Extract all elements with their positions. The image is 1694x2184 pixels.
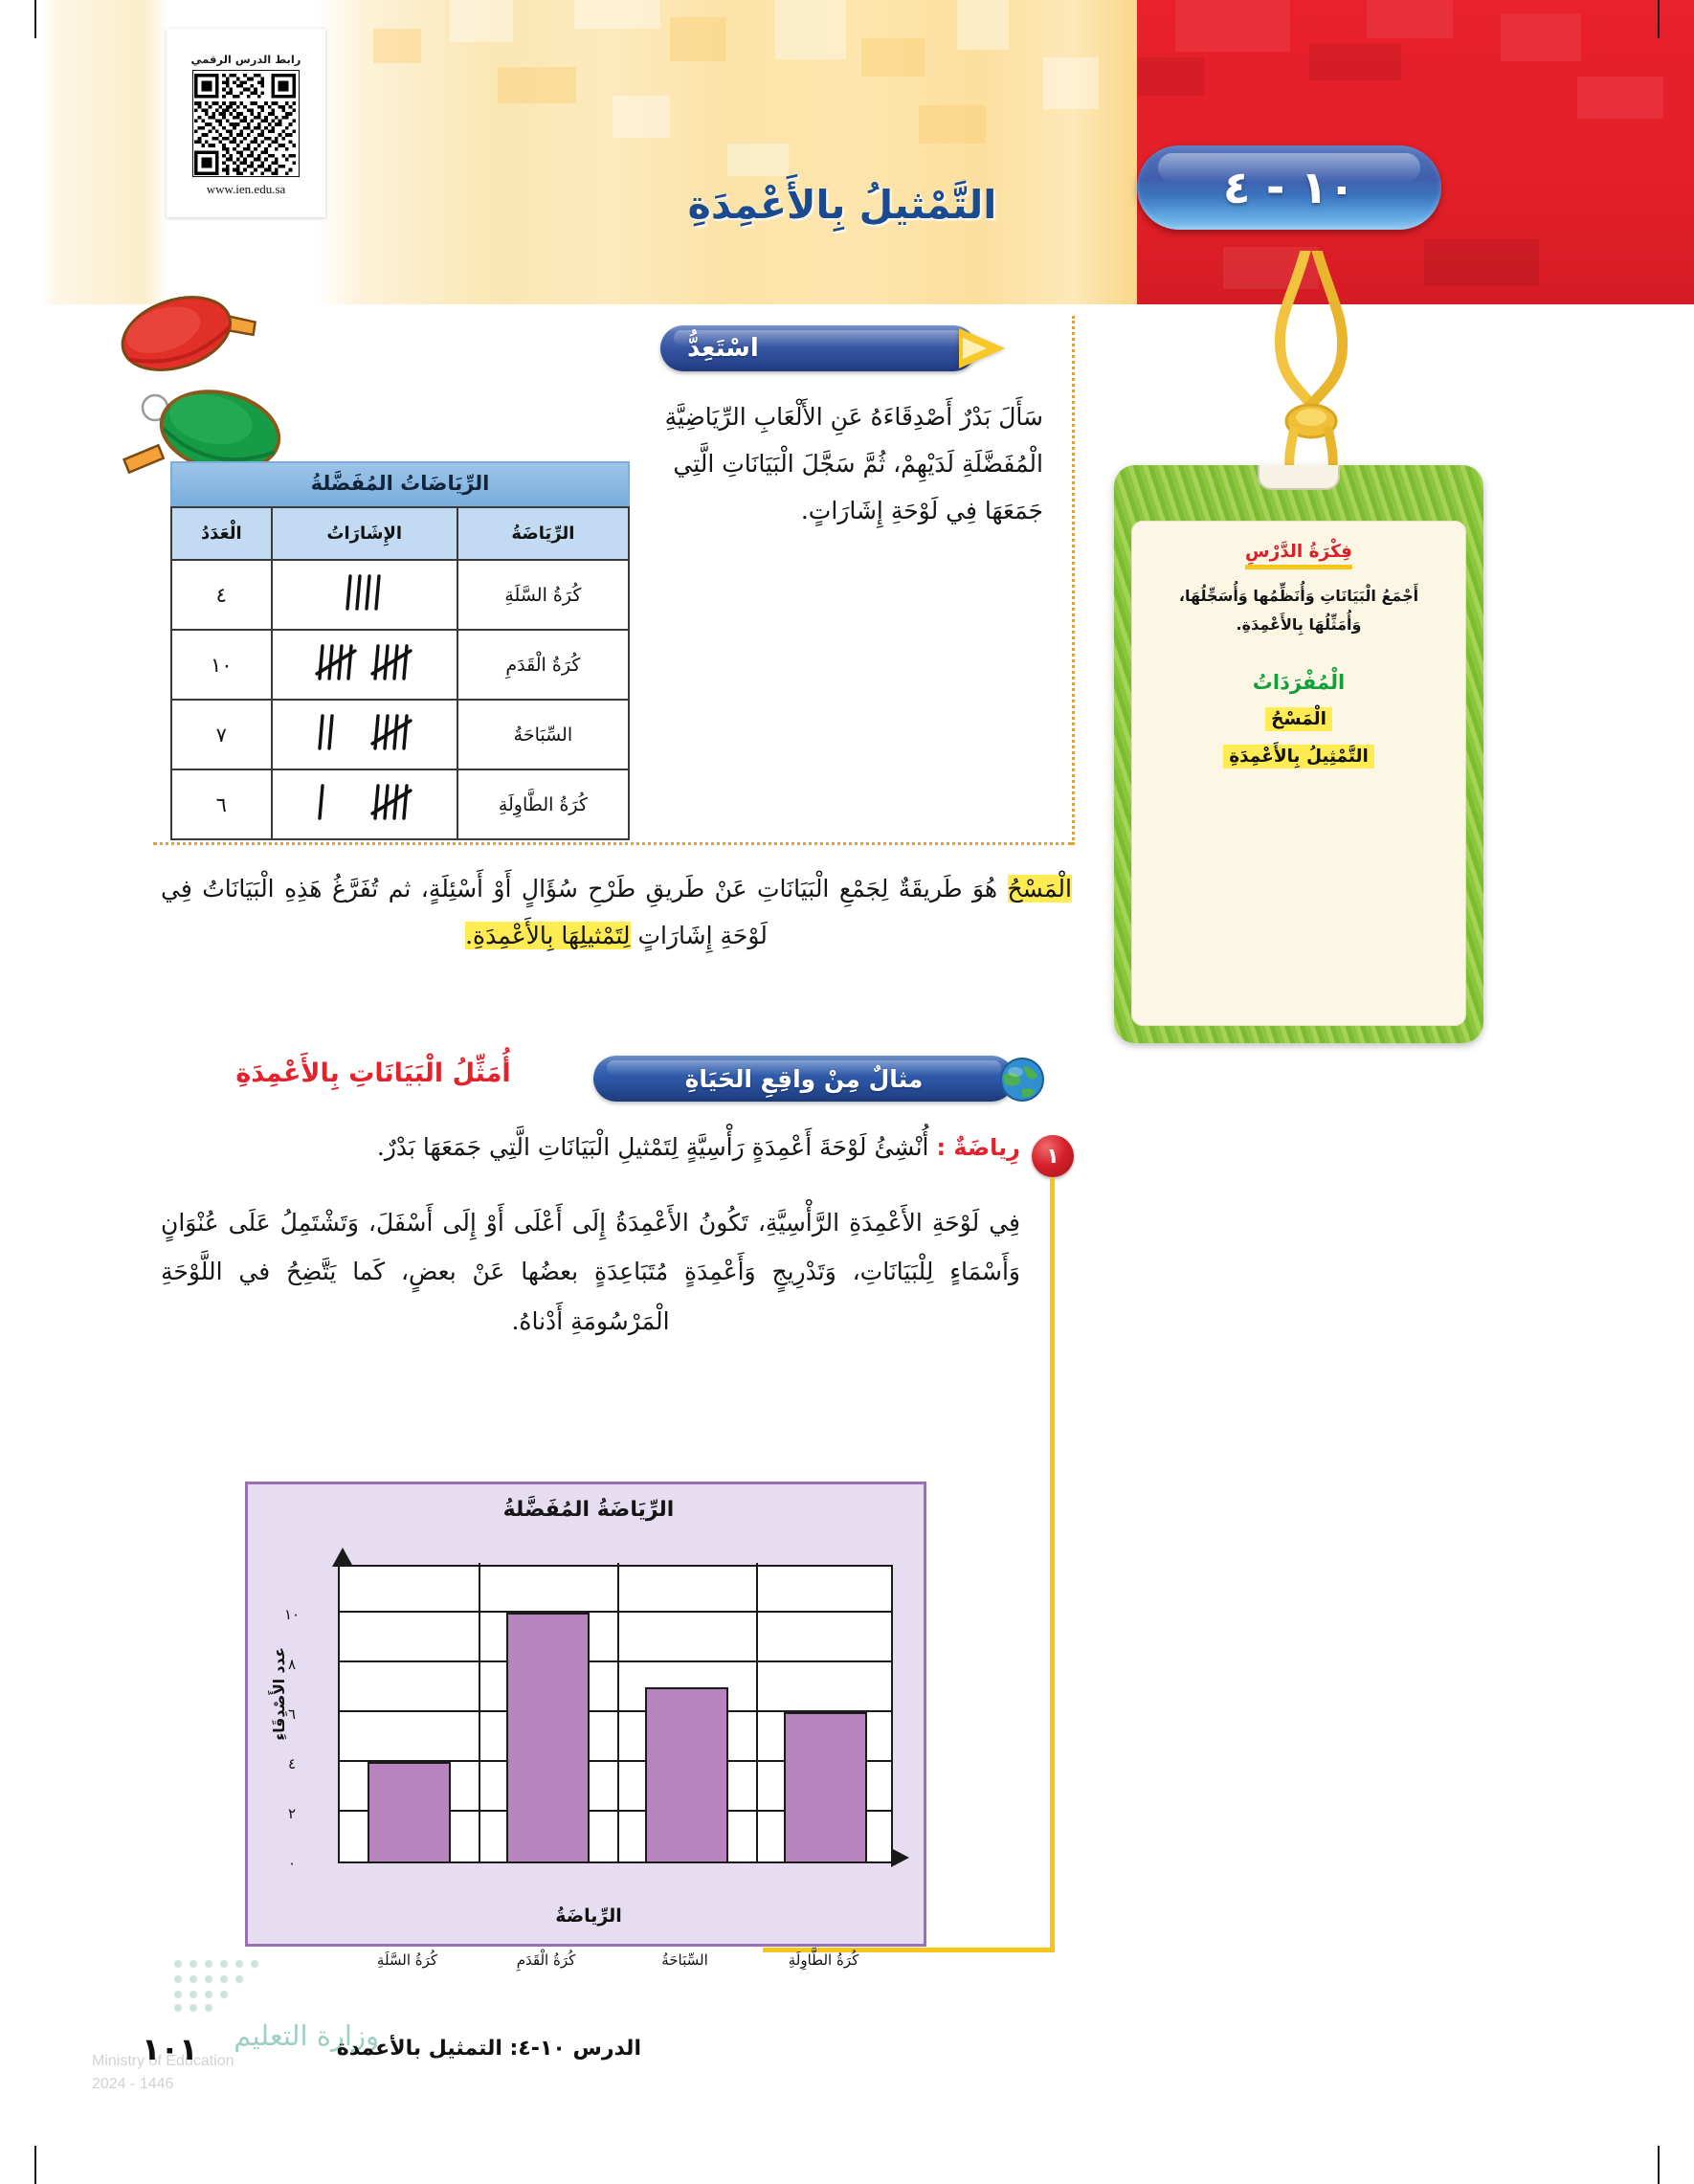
table-cell-tally [272, 769, 457, 839]
table-cell-sport: السِّبَاحَةُ [457, 700, 629, 769]
tally-group [315, 712, 359, 752]
crop-mark-tr-v [1658, 0, 1660, 38]
footer-lesson-label: الدرس ١٠-٤: التمثيل بالأعمدة [239, 2037, 641, 2061]
table-cell-tally [272, 630, 457, 700]
tally-group [370, 642, 414, 682]
prepare-pill: اسْتَعِدُّ [660, 325, 976, 371]
table-cell-tally [272, 560, 457, 630]
chart-y-tick-label: ٢ [271, 1805, 313, 1822]
prepare-section-header: اسْتَعِدُّ [660, 325, 1016, 371]
example-accent-rule [1050, 1177, 1055, 1952]
table-col-sport: الرِّيَاضَةُ [457, 507, 629, 560]
chart-bar [645, 1687, 728, 1861]
definition-term2-highlight: لِتَمْثيلِهَا بِالأَعْمِدَةِ. [465, 922, 630, 949]
lesson-idea-title: فِكْرَةُ الدَّرْسِ [1245, 542, 1352, 569]
chart-x-tick-label: كُرَةُ الطَّاوِلَةِ [767, 1951, 881, 1969]
tally-group [370, 782, 414, 822]
vocabulary-title: الْمُفْرَدَاتُ [1150, 671, 1447, 694]
tally-group [343, 572, 387, 613]
table-row: كُرَةُ الْقَدَمِ١٠ [171, 630, 629, 700]
chart-x-tick-label: كُرَةُ السَّلَةِ [350, 1951, 465, 1969]
crop-mark-br-v [1658, 2146, 1660, 2184]
example-body-paragraph: فِي لَوْحَةِ الأَعْمِدَةِ الرَّأْسِيَّةِ… [161, 1198, 1020, 1346]
tally-group [315, 642, 359, 682]
crop-mark-bl-v [34, 2146, 36, 2184]
lesson-idea-inner: فِكْرَةُ الدَّرْسِ أَجْمَعُ الْبَيَانَات… [1131, 521, 1466, 1026]
bar-chart-panel: الرِّيَاضَةُ المُفَضَّلةُ عدد الأَصْدِقَ… [245, 1482, 926, 1947]
lesson-number-text: ١٠ - ٤ [1223, 162, 1355, 214]
table-cell-count: ١٠ [171, 630, 272, 700]
tally-group [315, 782, 359, 822]
chart-bar [368, 1762, 451, 1861]
table-cell-sport: كُرَةُ الْقَدَمِ [457, 630, 629, 700]
chart-bar [784, 1712, 867, 1861]
table-cell-count: ٦ [171, 769, 272, 839]
chart-y-tick-label: ٦ [271, 1705, 313, 1723]
arrow-left-icon [959, 328, 1005, 368]
table-row: السِّبَاحَةُ٧ [171, 700, 629, 769]
table-cell-tally [272, 700, 457, 769]
real-life-example-header: مثالٌ مِنْ واقِعِ الحَيَاةِ [593, 1056, 1072, 1105]
table-cell-sport: كُرَةُ السَّلَةِ [457, 560, 629, 630]
chart-column-separator [617, 1563, 619, 1861]
y-axis-arrow-icon [332, 1548, 353, 1567]
table-header-row: الرِّيَاضَةُ الإِشَارَاتُ الْعَدَدُ [171, 507, 629, 560]
chart-y-tick-label: ٠ [271, 1855, 313, 1872]
chart-x-tick-label: السِّبَاحَةُ [628, 1951, 743, 1969]
lesson-number-badge: ١٠ - ٤ [1137, 145, 1441, 230]
tally-group [370, 712, 414, 752]
table-caption: الرِّيَاضَاتُ المُفَضَّلةُ [170, 461, 630, 506]
table-col-count: الْعَدَدُ [171, 507, 272, 560]
section-divider-vertical [1072, 316, 1075, 845]
survey-definition-paragraph: الْمَسْحُ هُوَ طَريقَةٌ لِجَمْعِ الْبَيَ… [161, 866, 1072, 960]
page-title: التَّمْثيلُ بِالأَعْمِدَةِ [574, 182, 1110, 228]
chart-bar [506, 1613, 590, 1861]
example-prompt-label: رِياضَةٌ : [936, 1134, 1020, 1161]
crop-mark-tl-v [34, 0, 36, 38]
card-notch [1258, 465, 1340, 490]
chart-y-tick-label: ١٠ [271, 1606, 313, 1623]
qr-url-text: www.ien.edu.sa [167, 182, 325, 197]
real-life-example-pill: مثالٌ مِنْ واقِعِ الحَيَاةِ [593, 1056, 1014, 1102]
table-row: كُرَةُ السَّلَةِ٤ [171, 560, 629, 630]
chart-x-axis-title: الرِّياضَةُ [248, 1905, 929, 1927]
chart-gridline [340, 1660, 891, 1662]
section-divider-horizontal [153, 842, 1072, 845]
chart-x-tick-label: كُرَةُ الْقَدَمِ [489, 1951, 604, 1969]
hanging-cord [1235, 251, 1388, 471]
qr-label: رابط الدرس الرقمي [167, 53, 325, 66]
chart-plot: ٠٢٤٦٨١٠ كُرَةُ السَّلَةِكُرَةُ الْقَدَمِ… [311, 1565, 893, 1863]
example-prompt-line: رِياضَةٌ : أُنْشِئُ لَوْحَةَ أَعْمِدَةٍ … [161, 1133, 1020, 1161]
x-axis-arrow-icon [891, 1848, 909, 1867]
chart-y-tick-label: ٤ [271, 1755, 313, 1772]
vocabulary-term-1: الْمَسْحُ [1265, 707, 1332, 731]
ministry-year: 2024 - 1446 [92, 2076, 379, 2093]
table-cell-count: ٧ [171, 700, 272, 769]
real-life-example-text: مثالٌ مِنْ واقِعِ الحَيَاةِ [685, 1065, 924, 1093]
favorite-sports-table-wrapper: الرِّيَاضَاتُ المُفَضَّلةُ الرِّيَاضَةُ … [170, 461, 630, 840]
table-cell-count: ٤ [171, 560, 272, 630]
example-prompt-text: أُنْشِئُ لَوْحَةَ أَعْمِدَةٍ رَأْسِيَّةٍ… [377, 1133, 937, 1161]
page-number: ١٠١ [142, 2031, 198, 2067]
chart-plot-area [338, 1565, 893, 1863]
definition-term-highlight: الْمَسْحُ [1008, 875, 1072, 903]
textbook-page: رابط الدرس الرقمي [0, 0, 1694, 2184]
chart-column-separator [479, 1563, 480, 1861]
digital-lesson-qr-card[interactable]: رابط الدرس الرقمي [167, 29, 325, 217]
chart-title: الرِّيَاضَةُ المُفَضَّلةُ [248, 1498, 929, 1522]
table-col-tally: الإِشَارَاتُ [272, 507, 457, 560]
chart-column-separator [756, 1563, 758, 1861]
lesson-idea-card: فِكْرَةُ الدَّرْسِ أَجْمَعُ الْبَيَانَات… [1114, 465, 1483, 1043]
favorite-sports-table: الرِّيَاضَاتُ المُفَضَّلةُ الرِّيَاضَةُ … [170, 461, 630, 840]
example-red-title: أُمَثِّلُ الْبَيَانَاتِ بِالأَعْمِدَةِ [182, 1059, 565, 1088]
table-cell-sport: كُرَةُ الطَّاوِلَةِ [457, 769, 629, 839]
chart-gridline [340, 1611, 891, 1613]
prepare-paragraph: سَأَلَ بَدْرٌ أَصْدِقَاءَهُ عَنِ الأَلْع… [660, 394, 1043, 534]
prepare-heading-text: اسْتَعِدُّ [687, 334, 759, 363]
vocabulary-term-2: التَّمْثِيلُ بِالأَعْمِدَةِ [1223, 745, 1374, 769]
qr-code-icon[interactable] [192, 70, 300, 177]
table-row: كُرَةُ الطَّاوِلَةِ٦ [171, 769, 629, 839]
globe-icon [995, 1053, 1049, 1106]
lesson-idea-body: أَجْمَعُ الْبَيَانَاتِ وَأُنَظِّمُها وَأ… [1150, 582, 1447, 638]
example-number-badge: ١ [1032, 1135, 1074, 1177]
chart-y-tick-label: ٨ [271, 1656, 313, 1673]
footer-dot-decoration [172, 1958, 287, 2014]
